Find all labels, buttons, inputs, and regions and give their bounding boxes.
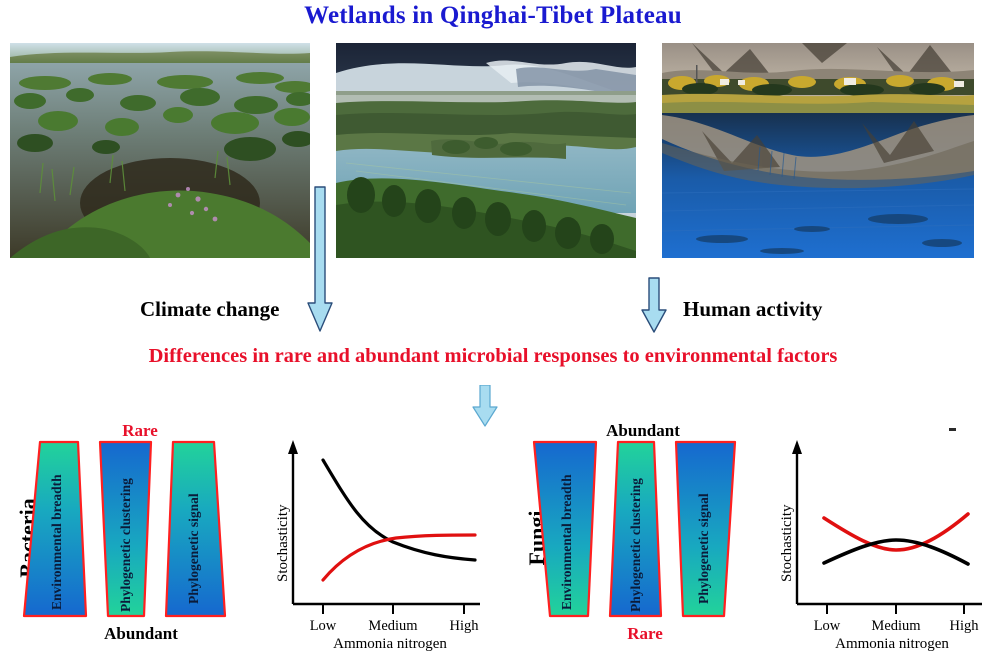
svg-text:Phylogenetic signal: Phylogenetic signal (696, 493, 711, 604)
arrow-to-results (472, 385, 498, 427)
photo-reflective-lake (662, 43, 974, 258)
label-human-activity: Human activity (683, 297, 822, 322)
svg-text:High: High (950, 618, 980, 634)
photo-alpine-marsh (10, 43, 310, 258)
svg-text:Ammonia nitrogen: Ammonia nitrogen (835, 636, 949, 652)
svg-text:Ammonia nitrogen: Ammonia nitrogen (333, 636, 447, 652)
fungi-bottom-pole-label: Rare (600, 624, 690, 644)
label-climate-change: Climate change (140, 297, 279, 322)
svg-text:Phylogenetic clustering: Phylogenetic clustering (118, 478, 133, 612)
photo-river-valley (336, 43, 636, 258)
bacteria-bottom-pole-label: Abundant (76, 624, 206, 644)
svg-text:Low: Low (310, 618, 337, 634)
svg-text:Environmental breadth: Environmental breadth (559, 474, 574, 610)
svg-text:Medium: Medium (871, 618, 921, 634)
bacteria-trait-trapezoids: Environmental breadth Phylogenetic clust… (18, 440, 233, 620)
chart-bacteria-stochasticity: Stochasticity Low Medium High Ammonia ni… (268, 432, 486, 654)
svg-text:Stochasticity: Stochasticity (779, 504, 795, 582)
svg-text:Phylogenetic signal: Phylogenetic signal (186, 493, 201, 604)
bacteria-top-pole-label: Rare (95, 421, 185, 441)
stray-mark (949, 428, 956, 431)
arrow-climate-change (307, 185, 333, 333)
svg-text:Environmental breadth: Environmental breadth (49, 474, 64, 610)
page-title: Wetlands in Qinghai-Tibet Plateau (0, 2, 986, 30)
arrow-human-activity (641, 276, 667, 334)
svg-text:Stochasticity: Stochasticity (275, 504, 291, 582)
svg-text:Medium: Medium (368, 618, 418, 634)
key-finding-statement: Differences in rare and abundant microbi… (0, 345, 986, 368)
svg-text:High: High (450, 618, 480, 634)
fungi-trait-trapezoids: Environmental breadth Phylogenetic clust… (528, 440, 743, 620)
svg-text:Phylogenetic clustering: Phylogenetic clustering (628, 478, 643, 612)
chart-fungi-stochasticity: Stochasticity Low Medium High Ammonia ni… (772, 432, 986, 654)
svg-text:Low: Low (814, 618, 841, 634)
fungi-top-pole-label: Abundant (578, 421, 708, 441)
